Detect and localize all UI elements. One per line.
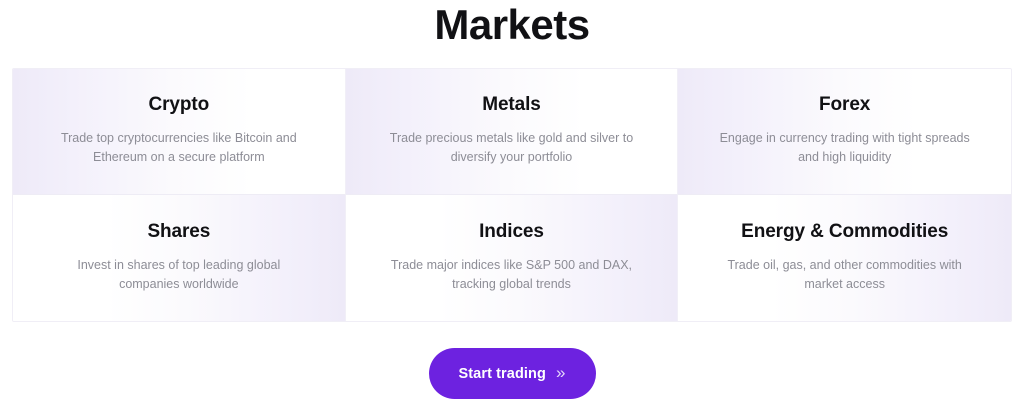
market-card-indices[interactable]: Indices Trade major indices like S&P 500… (346, 195, 679, 321)
markets-page: Markets Crypto Trade top cryptocurrencie… (0, 0, 1024, 409)
market-card-title: Metals (482, 92, 541, 118)
market-card-crypto[interactable]: Crypto Trade top cryptocurrencies like B… (13, 69, 346, 195)
market-card-description: Trade top cryptocurrencies like Bitcoin … (53, 129, 305, 167)
markets-card-grid: Crypto Trade top cryptocurrencies like B… (12, 68, 1012, 322)
market-card-title: Shares (147, 219, 210, 245)
start-trading-button[interactable]: Start trading » (429, 348, 596, 399)
cta-container: Start trading » (0, 348, 1024, 399)
market-card-title: Energy & Commodities (741, 219, 948, 245)
market-card-metals[interactable]: Metals Trade precious metals like gold a… (346, 69, 679, 195)
market-card-description: Engage in currency trading with tight sp… (719, 129, 971, 167)
market-card-energy-commodities[interactable]: Energy & Commodities Trade oil, gas, and… (678, 195, 1011, 321)
market-card-description: Trade precious metals like gold and silv… (385, 129, 637, 167)
market-card-title: Indices (479, 219, 544, 245)
market-card-description: Invest in shares of top leading global c… (53, 256, 305, 294)
market-card-forex[interactable]: Forex Engage in currency trading with ti… (678, 69, 1011, 195)
page-title: Markets (0, 0, 1024, 52)
market-card-shares[interactable]: Shares Invest in shares of top leading g… (13, 195, 346, 321)
start-trading-label: Start trading (458, 366, 546, 382)
market-card-title: Crypto (149, 92, 210, 118)
double-chevron-right-icon: » (556, 364, 566, 381)
market-card-title: Forex (819, 92, 870, 118)
market-card-description: Trade oil, gas, and other commodities wi… (719, 256, 971, 294)
market-card-description: Trade major indices like S&P 500 and DAX… (385, 256, 637, 294)
